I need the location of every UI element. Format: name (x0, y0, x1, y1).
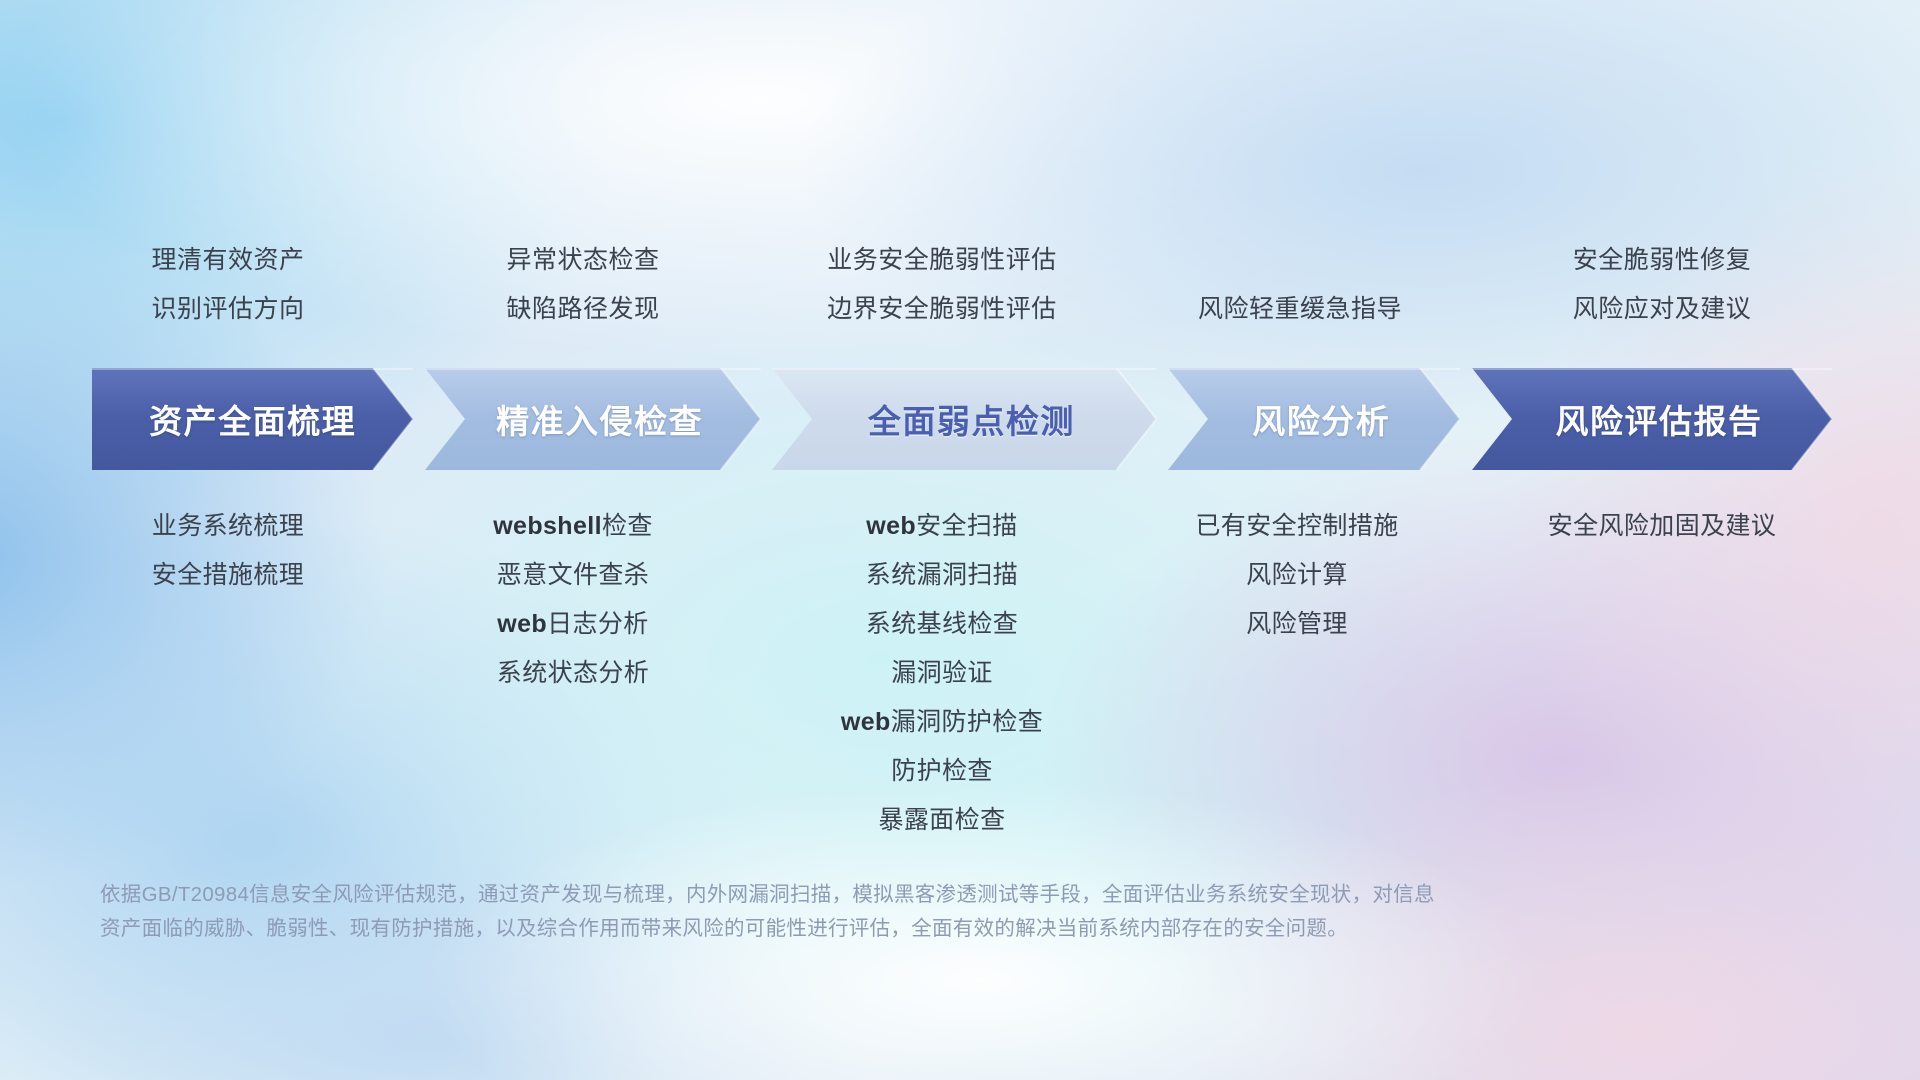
footer-description: 依据GB/T20984信息安全风险评估规范，通过资产发现与梳理，内外网漏洞扫描，… (100, 878, 1600, 946)
step-5-inputs: 安全脆弱性修复风险应对及建议 (1432, 236, 1892, 334)
footer-line-2: 资产面临的威胁、脆弱性、现有防护措施，以及综合作用而带来风险的可能性进行评估，全… (100, 912, 1600, 946)
process-step-5[interactable]: 风险评估报告 (1472, 368, 1832, 470)
output-item: 漏洞验证 (712, 649, 1172, 698)
step-inputs-row: 理清有效资产识别评估方向异常状态检查缺陷路径发现业务安全脆弱性评估边界安全脆弱性… (0, 236, 1920, 336)
process-step-1[interactable]: 资产全面梳理 (92, 368, 413, 470)
input-item: 安全脆弱性修复 (1432, 236, 1892, 285)
output-item: web漏洞防护检查 (712, 698, 1172, 747)
step-5-outputs: 安全风险加固及建议 (1432, 502, 1892, 551)
output-item: 安全风险加固及建议 (1432, 502, 1892, 551)
process-step-4[interactable]: 风险分析 (1168, 368, 1460, 470)
process-diagram: 理清有效资产识别评估方向异常状态检查缺陷路径发现业务安全脆弱性评估边界安全脆弱性… (0, 0, 1920, 1080)
process-step-label: 风险评估报告 (1555, 395, 1762, 443)
output-item: 暴露面检查 (712, 796, 1172, 845)
output-item: 风险管理 (1067, 600, 1527, 649)
output-item: 防护检查 (712, 747, 1172, 796)
process-step-3[interactable]: 全面弱点检测 (772, 368, 1156, 470)
output-item: 风险计算 (1067, 551, 1527, 600)
input-item: 风险应对及建议 (1432, 285, 1892, 334)
process-step-label: 全面弱点检测 (868, 395, 1075, 443)
input-item: 业务安全脆弱性评估 (712, 236, 1172, 285)
footer-line-1: 依据GB/T20984信息安全风险评估规范，通过资产发现与梳理，内外网漏洞扫描，… (100, 878, 1600, 912)
process-arrow-band: 资产全面梳理精准入侵检查全面弱点检测风险分析风险评估报告 (92, 368, 1832, 470)
process-step-label: 资产全面梳理 (149, 395, 356, 443)
process-step-label: 精准入侵检查 (496, 395, 703, 443)
process-step-label: 风险分析 (1252, 395, 1390, 443)
process-step-2[interactable]: 精准入侵检查 (425, 368, 761, 470)
